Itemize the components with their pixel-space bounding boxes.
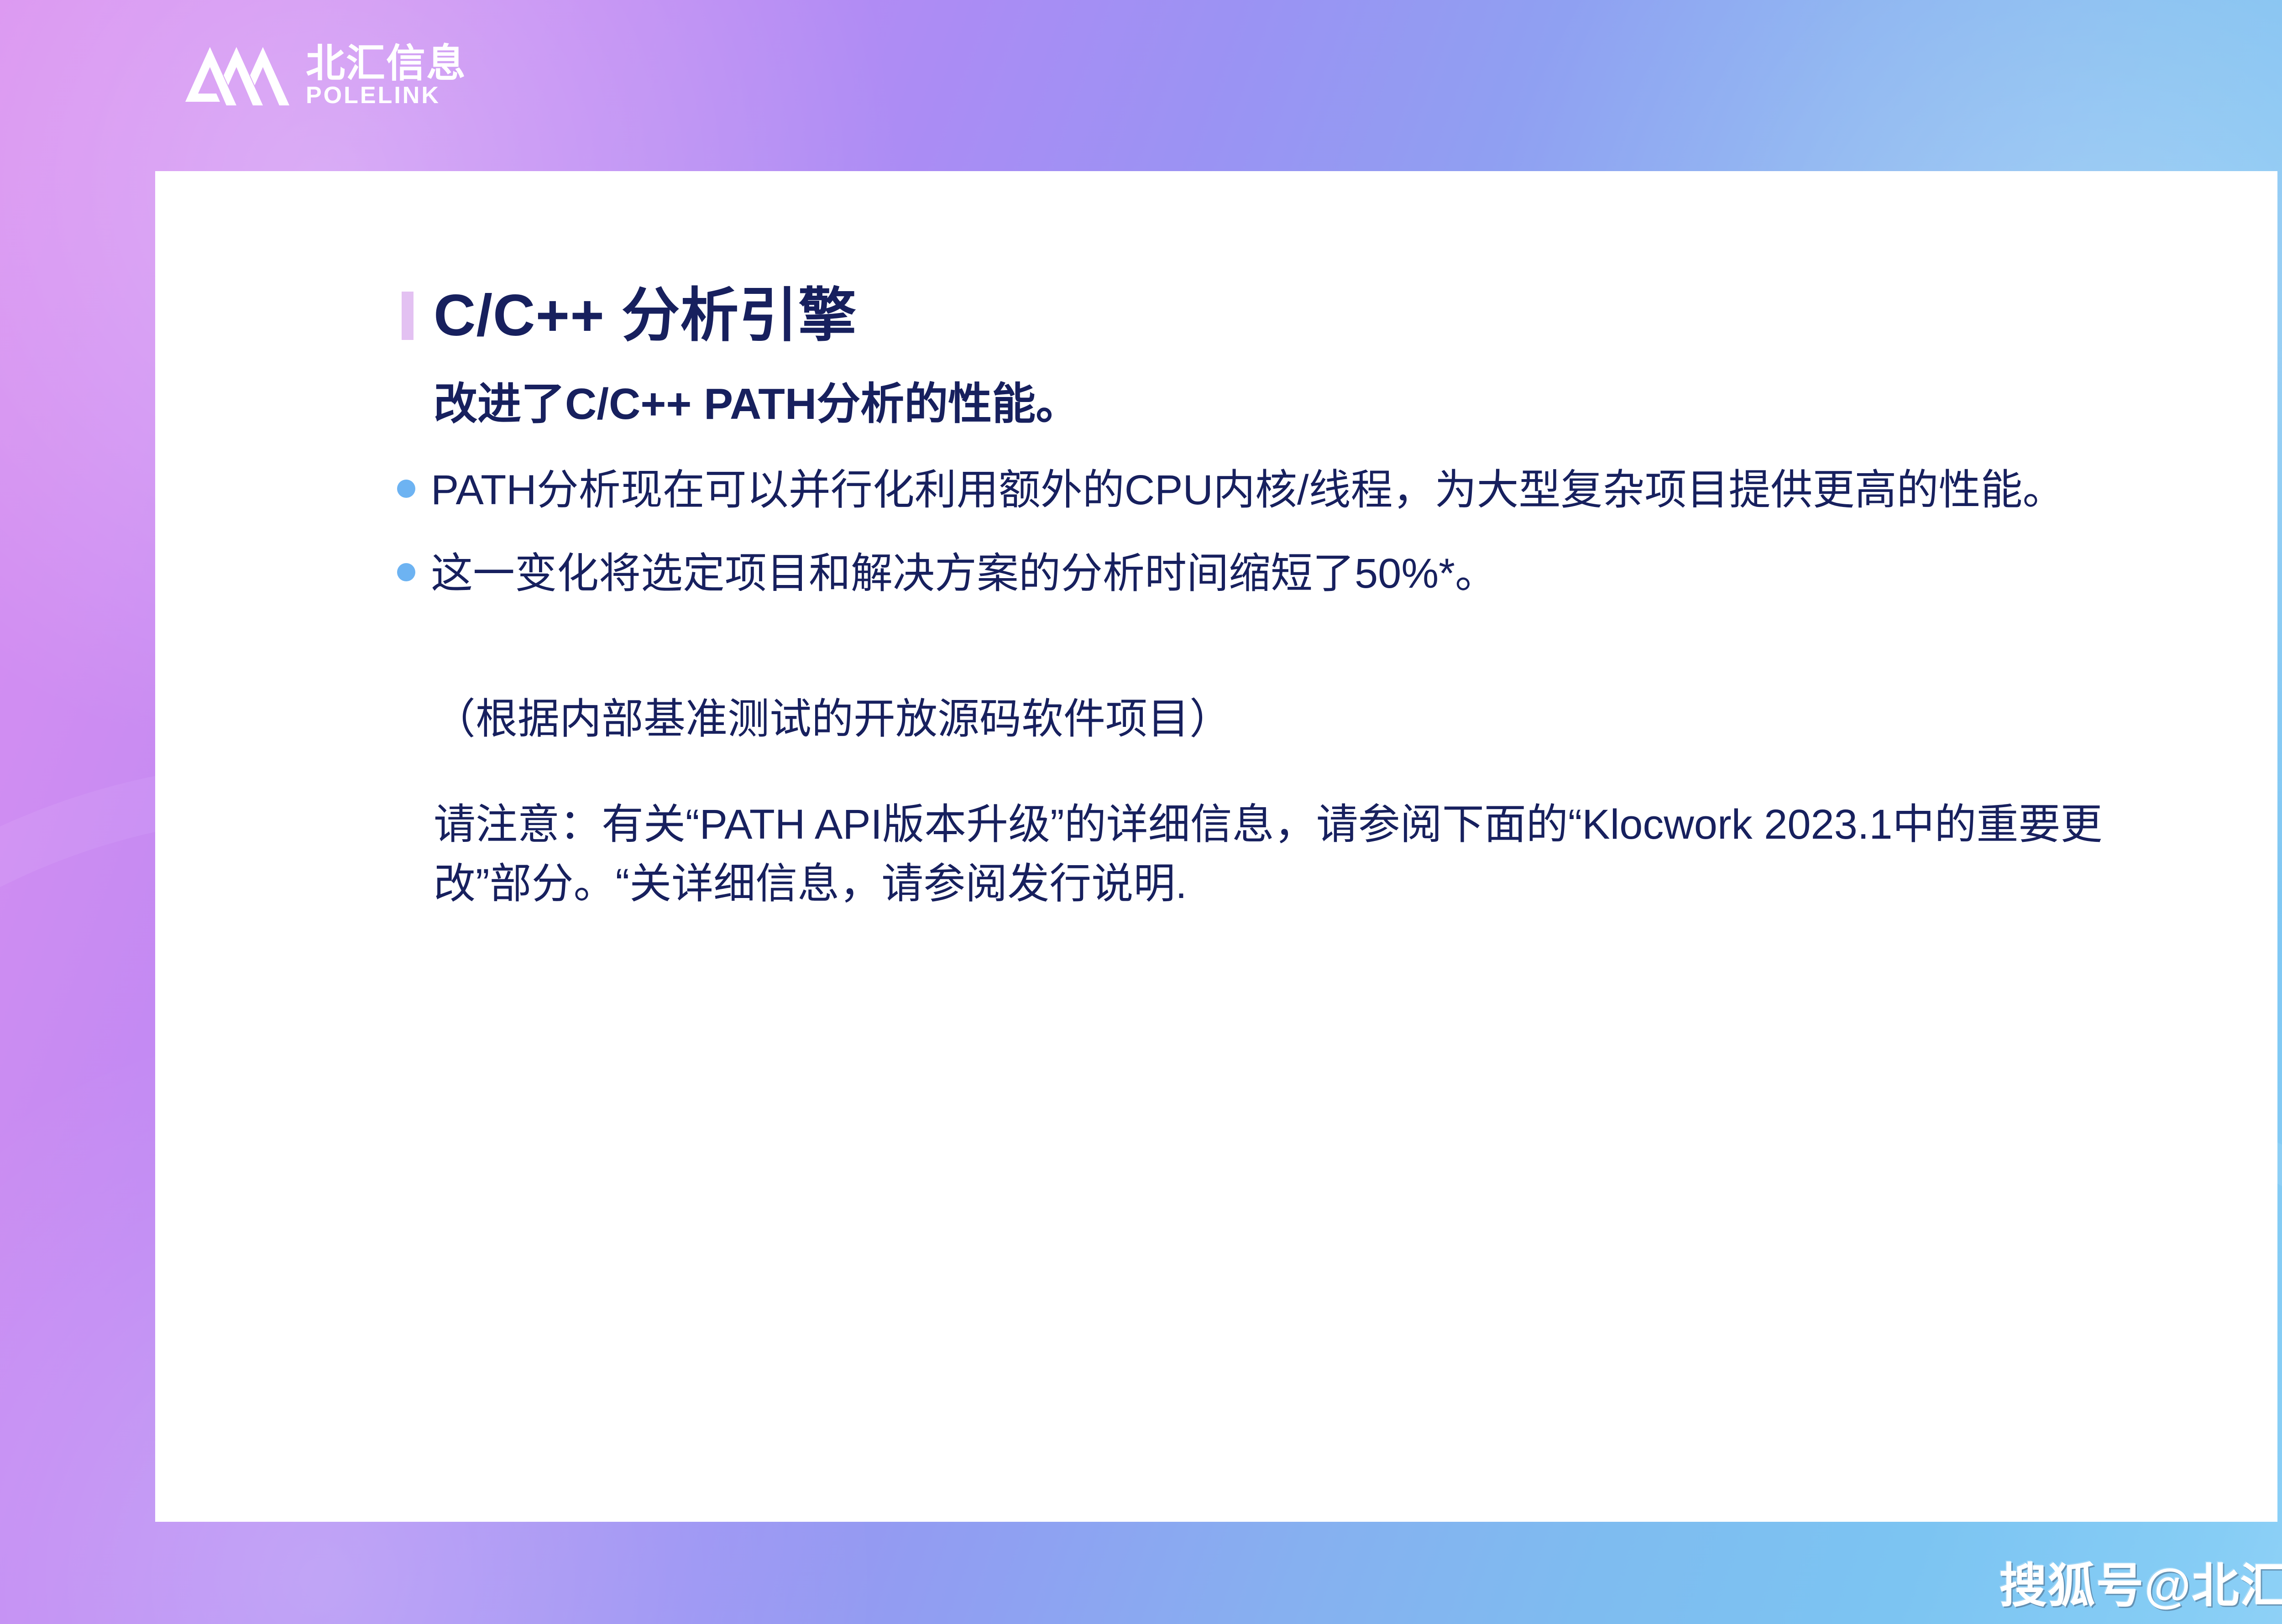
watermark-text: 搜狐号@北汇信息 xyxy=(1999,1547,2282,1616)
bullet-text: 这一变化将选定项目和解决方案的分析时间缩短了50%*。 xyxy=(431,545,1497,603)
slide-content-inner: C/C++ 分析引擎 改进了C/C++ PATH分析的性能。 PATH分析现在可… xyxy=(292,285,2195,914)
page-title: C/C++ 分析引擎 xyxy=(434,285,857,346)
presentation-slide: 北汇信息 POLELINK C/C++ 分析引擎 改进了C/C++ PATH分析… xyxy=(0,0,2282,1624)
list-item: PATH分析现在可以并行化利用额外的CPU内核/线程，为大型复杂项目提供更高的性… xyxy=(397,461,2195,519)
paragraph-api-note: 请注意：有关“PATH API版本升级”的详细信息，请参阅下面的“Klocwor… xyxy=(434,795,2195,914)
brand-name-cn: 北汇信息 xyxy=(306,44,466,83)
brand-name-en: POLELINK xyxy=(306,84,440,107)
bullet-dot-icon xyxy=(397,480,415,498)
polelink-mountain-icon xyxy=(183,43,292,107)
slide-subtitle: 改进了C/C++ PATH分析的性能。 xyxy=(434,380,2195,428)
bullet-text: PATH分析现在可以并行化利用额外的CPU内核/线程，为大型复杂项目提供更高的性… xyxy=(431,461,2065,519)
bullet-dot-icon xyxy=(397,563,415,581)
paragraph-benchmark-note: （根据内部基准测试的开放源码软件项目） xyxy=(434,689,2195,749)
slide-content-card: C/C++ 分析引擎 改进了C/C++ PATH分析的性能。 PATH分析现在可… xyxy=(155,171,2277,1522)
bullet-list: PATH分析现在可以并行化利用额外的CPU内核/线程，为大型复杂项目提供更高的性… xyxy=(292,461,2195,603)
list-item: 这一变化将选定项目和解决方案的分析时间缩短了50%*。 xyxy=(397,545,2195,603)
paragraph-block: （根据内部基准测试的开放源码软件项目） 请注意：有关“PATH API版本升级”… xyxy=(434,689,2195,914)
heading-accent-bar xyxy=(402,292,413,340)
brand-logo: 北汇信息 POLELINK xyxy=(183,43,466,107)
slide-heading: C/C++ 分析引擎 xyxy=(402,285,2195,346)
brand-logo-text: 北汇信息 POLELINK xyxy=(306,44,466,107)
